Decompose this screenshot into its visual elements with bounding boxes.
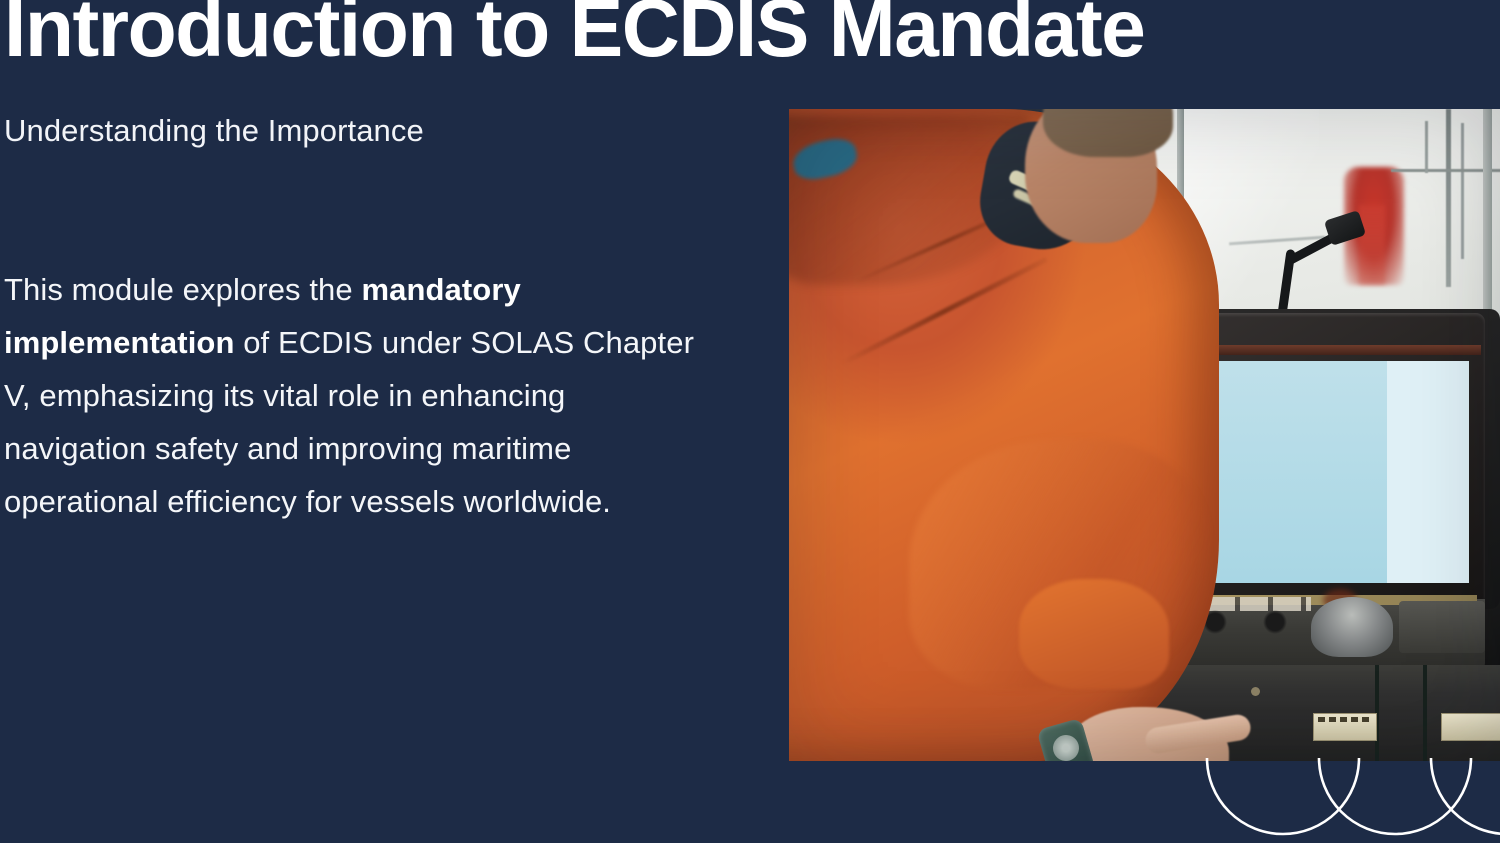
housing-screw-right [1251,687,1260,696]
page-subtitle: Understanding the Importance [4,112,424,149]
red-crane-mast [1359,205,1385,285]
text-column: Introduction to ECDIS Mandate Understand… [0,0,760,843]
body-segment-1: This module explores the [4,272,361,307]
semicircle-arc-1 [1207,758,1359,834]
semicircle-arc-3 [1431,758,1500,834]
console-trackball [1311,597,1393,657]
slide-canvas: Introduction to ECDIS Mandate Understand… [0,0,1500,843]
control-panel-pad [1399,601,1485,653]
ship-mast-secondary [1461,123,1464,259]
decorative-arcs [1190,752,1500,843]
housing-seam-2 [1423,665,1427,761]
bridge-photo [789,109,1500,761]
coverall-cuff [1019,579,1169,689]
warning-label-text [1318,717,1370,722]
antenna [1425,121,1428,173]
arc-group [1190,752,1500,843]
ship-mast [1446,109,1451,287]
officer-hair [1043,109,1173,157]
warning-label-plate-2 [1441,713,1500,741]
page-title: Introduction to ECDIS Mandate [4,0,1144,70]
semicircle-arc-2 [1319,758,1471,834]
body-paragraph: This module explores the mandatory imple… [4,263,694,528]
